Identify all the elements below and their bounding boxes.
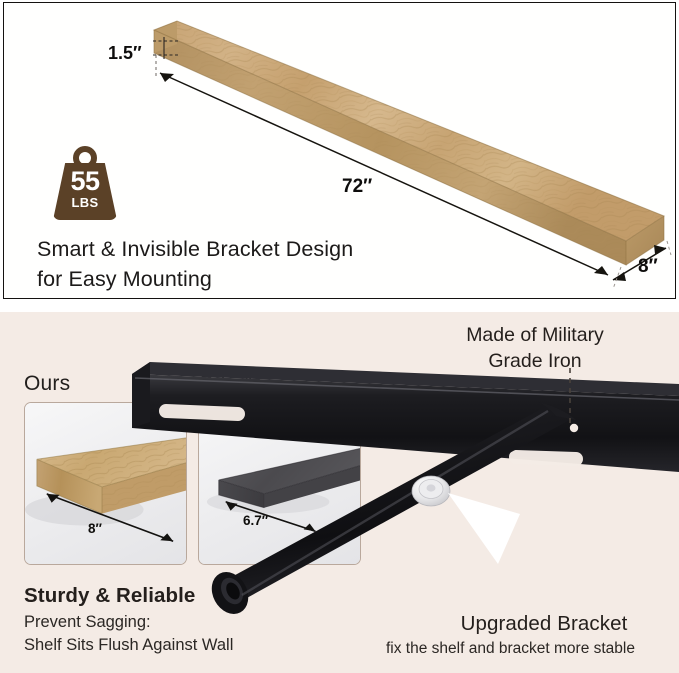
badge-weight-value: 55 <box>51 168 119 195</box>
plank-top-grain <box>154 21 664 241</box>
plank-front-grain <box>154 30 626 265</box>
hero-headline-line2: for Easy Mounting <box>37 264 437 294</box>
weight-capacity-badge-icon: 55 LBS <box>51 146 119 220</box>
upgraded-bracket-subtext: fix the shelf and bracket more stable <box>348 640 673 658</box>
hero-headline-line1: Smart & Invisible Bracket Design <box>37 234 437 264</box>
features-panel: Ours Others <box>0 312 679 673</box>
bar-center-hole <box>570 424 578 432</box>
depth-label: 8″ <box>638 256 658 278</box>
tube-washer-small <box>412 476 450 506</box>
length-label: 72″ <box>342 176 372 198</box>
thickness-label: 1.5″ <box>108 43 142 64</box>
military-grade-callout: Made of Military Grade Iron <box>400 322 670 374</box>
military-callout-line2: Grade Iron <box>400 348 670 374</box>
wall-mount-bar <box>132 362 679 472</box>
hero-panel: 1.5″ 72″ 8″ 55 LBS Smart & Invisible Bra… <box>3 2 676 299</box>
hero-headline: Smart & Invisible Bracket Design for Eas… <box>37 234 437 294</box>
badge-weight-unit: LBS <box>51 196 119 209</box>
military-callout-line1: Made of Military <box>400 322 670 348</box>
upgraded-bracket-heading: Upgraded Bracket <box>418 612 670 636</box>
